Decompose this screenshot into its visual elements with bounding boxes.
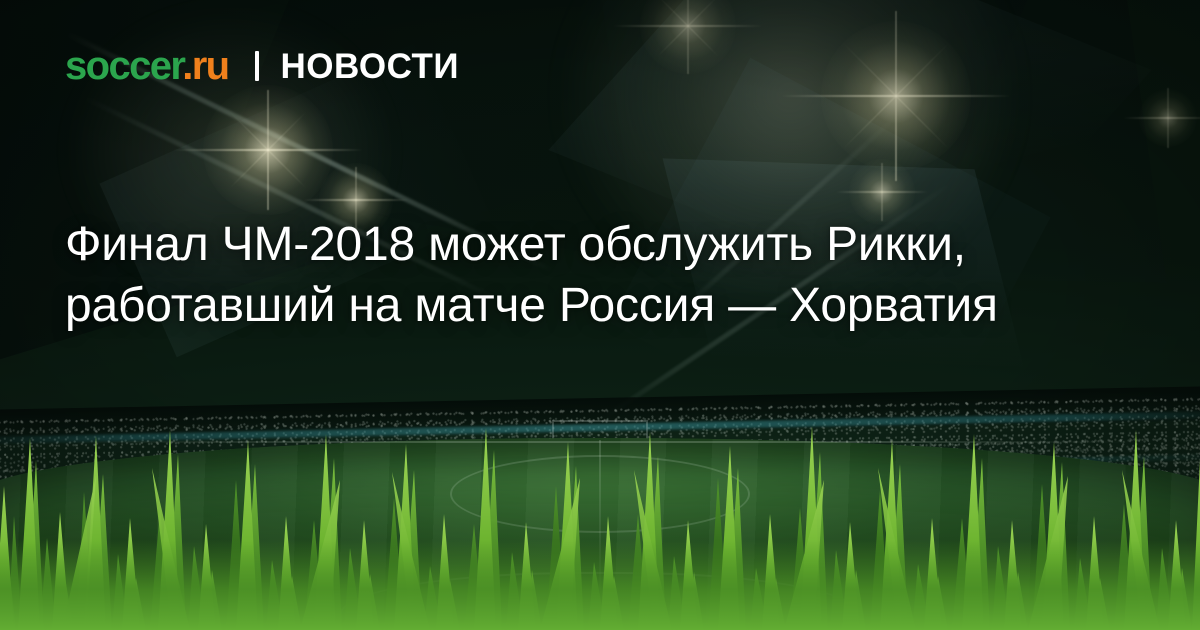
section-label-news[interactable]: НОВОСТИ: [281, 49, 460, 84]
logo-word-ru: ru: [192, 44, 229, 88]
page-title: Финал ЧМ-2018 может обслужить Рикки, раб…: [65, 214, 1105, 337]
brand-bar[interactable]: soccer.ru НОВОСТИ: [65, 46, 459, 86]
social-share-card: soccer.ru НОВОСТИ Финал ЧМ-2018 может об…: [0, 0, 1200, 630]
brand-separator-icon: [255, 51, 259, 81]
logo-dot: .: [182, 44, 192, 88]
logo-word-soccer: soccer: [65, 44, 182, 88]
card-content: soccer.ru НОВОСТИ Финал ЧМ-2018 может об…: [0, 0, 1200, 630]
soccer-ru-logo[interactable]: soccer.ru: [65, 46, 229, 86]
